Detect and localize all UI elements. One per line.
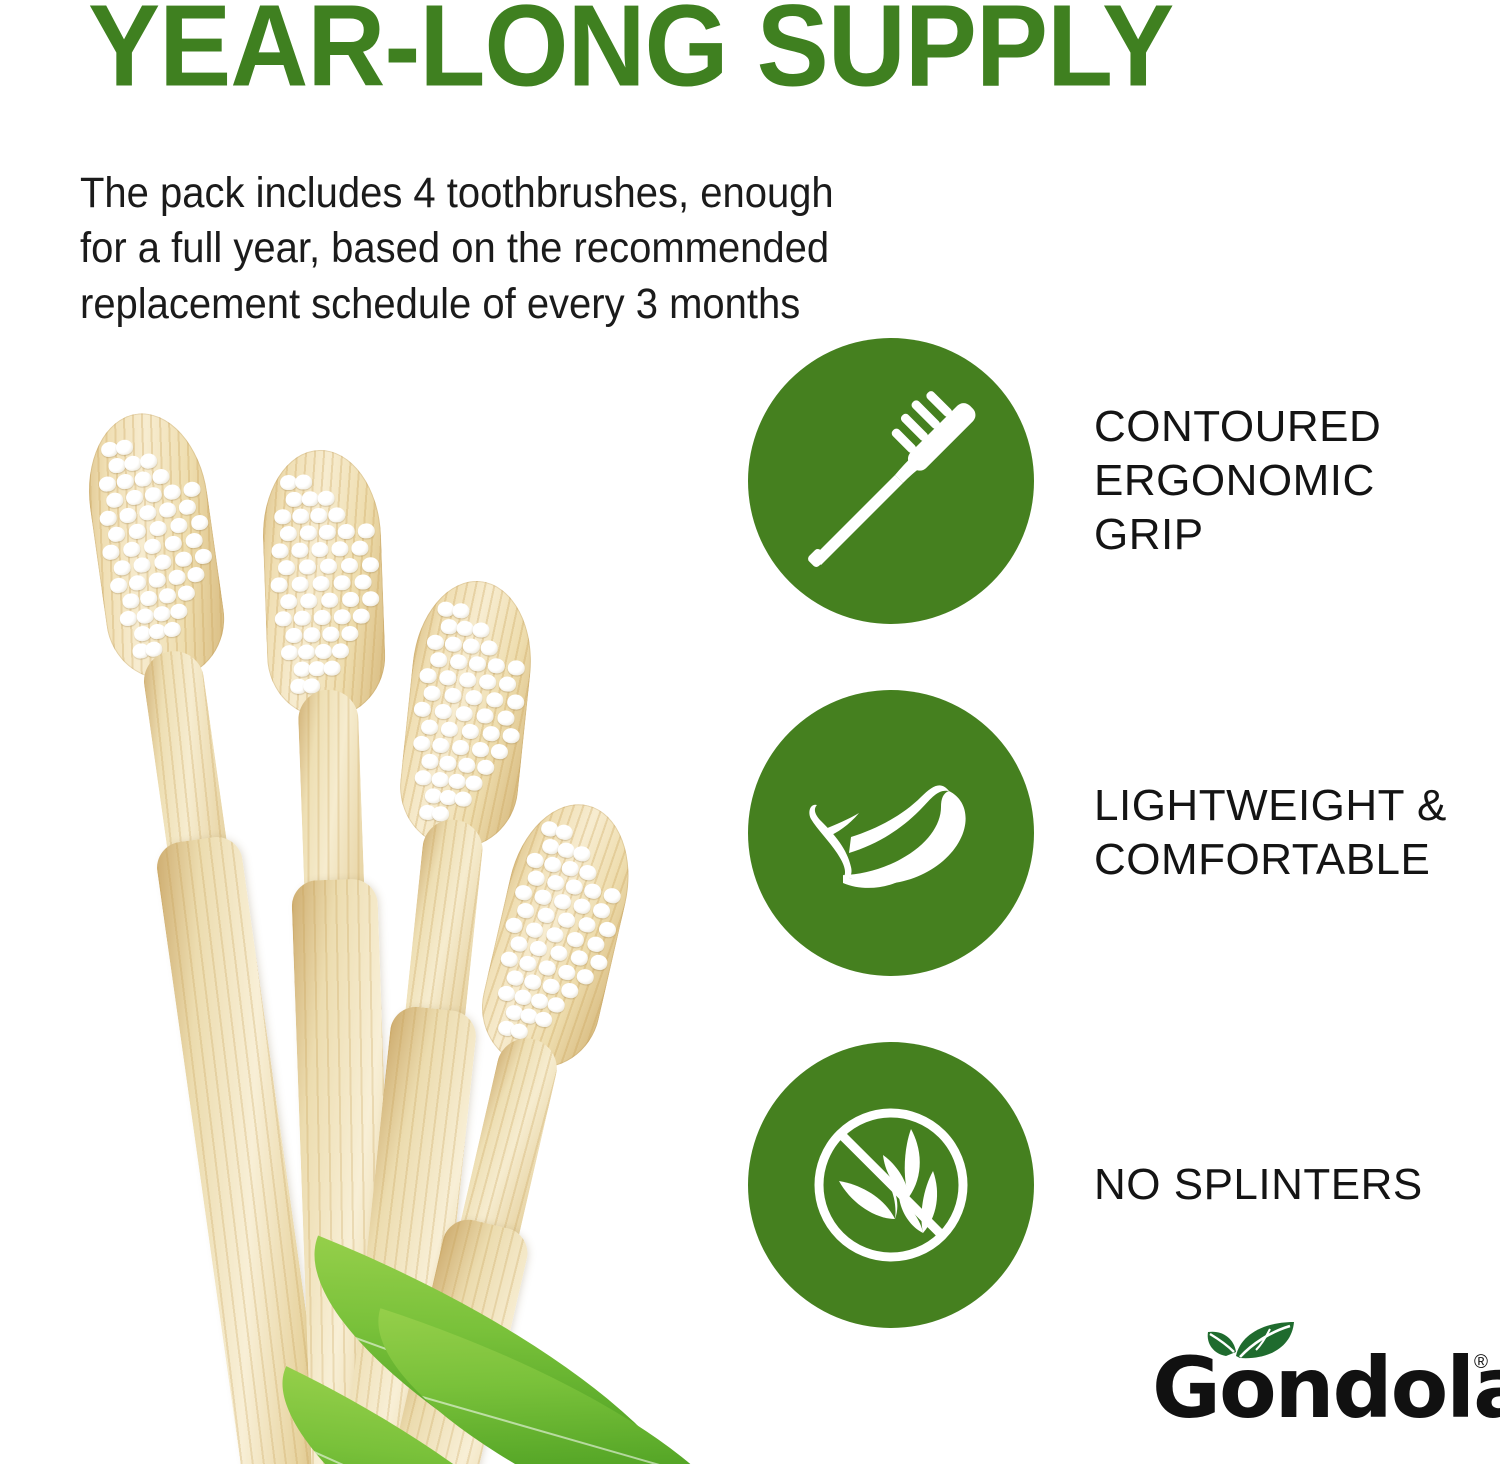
bristle-tuft <box>301 491 319 507</box>
bristle-tuft <box>281 645 299 661</box>
bristle-tuft <box>480 640 498 657</box>
bristle-tuft <box>423 685 441 702</box>
bristle-tuft <box>163 483 182 500</box>
bristle-tuft <box>304 627 322 643</box>
bristle-tuft <box>527 869 547 887</box>
bristle-tuft <box>444 636 462 653</box>
bristle-tuft <box>559 981 579 999</box>
bristle-tuft <box>271 577 289 593</box>
bristle-tuft <box>462 638 480 655</box>
feather-icon <box>791 733 991 933</box>
bristle-tuft <box>321 592 339 608</box>
bristle-tuft <box>465 775 483 792</box>
bristle-tuft <box>564 878 584 896</box>
bristle-tuft <box>119 610 138 627</box>
bristle-tuft <box>441 721 459 738</box>
bristle-tuft <box>169 517 188 534</box>
bristle-tuft <box>328 507 346 523</box>
bristle-tuft <box>115 439 134 456</box>
bristle-tuft <box>487 657 505 674</box>
bristle-tuft <box>451 602 469 619</box>
bristle-tuft <box>333 609 351 625</box>
bristle-tuft <box>525 921 545 939</box>
bristle-tuft <box>577 915 597 933</box>
bristle-tuft <box>149 520 168 537</box>
bristle-tuft <box>274 509 292 525</box>
bristle-tuft <box>592 902 612 920</box>
bristle-tuft <box>354 574 372 590</box>
product-photo <box>0 400 750 1464</box>
bristle-tuft <box>576 968 596 986</box>
feature-label: LIGHTWEIGHT & COMFORTABLE <box>1094 779 1447 886</box>
bristle-tuft <box>169 603 188 620</box>
bristle-tuft <box>476 759 494 776</box>
bristle-tuft <box>139 452 158 469</box>
bristle-tuft <box>541 977 561 995</box>
brush-neck <box>404 817 486 1032</box>
bristle-tuft <box>107 457 126 474</box>
bristle-tuft <box>476 708 494 725</box>
bristle-tuft <box>107 526 126 543</box>
bristle-tuft <box>497 710 515 727</box>
feature-no-splinters: NO SPLINTERS <box>748 1042 1423 1328</box>
bristle-tuft <box>341 558 359 574</box>
bristle-tuft <box>439 755 457 772</box>
bristle-tuft <box>362 591 380 607</box>
bristle-tuft <box>456 620 474 637</box>
bristle-tuft <box>459 672 477 689</box>
bristle-tuft <box>144 486 163 503</box>
feature-label: CONTOURED ERGONOMIC GRIP <box>1094 400 1381 561</box>
bristle-tuft <box>444 687 462 704</box>
bristle-tuft <box>509 935 529 953</box>
bristle-tuft <box>122 541 141 558</box>
bristle-tuft <box>468 655 486 672</box>
bristle-tuft <box>516 901 536 919</box>
bristle-tuft <box>311 542 329 558</box>
bristle-tuft <box>499 676 517 693</box>
bristle-tuft <box>507 659 525 676</box>
bristle-tuft <box>431 771 449 788</box>
brand-logo: Gondola ® <box>1152 1338 1482 1448</box>
bristle-tuft <box>176 585 195 602</box>
bristle-tuft <box>536 906 556 924</box>
bristle-tuft <box>158 501 177 518</box>
bristle-tuft <box>471 741 489 758</box>
bristle-tuft <box>285 492 303 508</box>
no-splinters-icon <box>791 1085 991 1285</box>
bristle-tuft <box>420 719 438 736</box>
bristle-tuft <box>271 543 289 559</box>
bristle-tuft <box>310 508 328 524</box>
bristle-tuft <box>299 559 317 575</box>
bristle-tuft <box>187 566 206 583</box>
bristle-tuft <box>118 507 137 524</box>
bristle-tuft <box>455 705 473 722</box>
bristle-tuft <box>572 845 592 863</box>
bristle-tuft <box>341 592 359 608</box>
bristle-tuft <box>352 540 370 556</box>
trademark-symbol: ® <box>1474 1352 1488 1374</box>
toothbrush-icon <box>791 381 991 581</box>
bristle-tuft <box>174 551 193 568</box>
feature-contoured-ergonomic-grip: CONTOURED ERGONOMIC GRIP <box>748 338 1381 624</box>
bristle-tuft <box>565 930 585 948</box>
bristle-tuft <box>454 791 472 808</box>
bristle-tuft <box>320 558 338 574</box>
bristle-tuft <box>430 651 448 668</box>
bristle-tuft <box>148 571 167 588</box>
bristle-tuft <box>357 523 375 539</box>
bristle-tuft <box>116 473 135 490</box>
bristle-tuft <box>414 769 432 786</box>
bristle-tuft <box>472 622 490 639</box>
bristle-tuft <box>438 669 456 686</box>
bristle-tuft <box>529 939 549 957</box>
bristle-tuft <box>412 735 430 752</box>
feature-icon-badge <box>748 690 1034 976</box>
feature-icon-badge <box>748 338 1034 624</box>
brand-name: Gondola <box>1152 1346 1500 1430</box>
bristle-tuft <box>106 491 125 508</box>
bristle-tuft <box>543 855 563 873</box>
bristle-tuft <box>133 556 152 573</box>
product-infographic: YEAR-LONG SUPPLY The pack includes 4 too… <box>0 0 1500 1464</box>
bristle-tuft <box>482 725 500 742</box>
bristle-tuft <box>434 703 452 720</box>
bristle-tuft <box>153 553 172 570</box>
bristle-tuft <box>413 701 431 718</box>
bristle-tuft <box>98 475 117 492</box>
bristle-tuft <box>418 667 436 684</box>
bristle-tuft <box>341 626 359 642</box>
feature-icon-badge <box>748 1042 1034 1328</box>
bristle-tuft <box>485 691 503 708</box>
bristle-tuft <box>557 911 577 929</box>
bristle-tuft <box>163 621 182 638</box>
bristle-tuft <box>432 737 450 754</box>
bristle-tuft <box>523 973 543 991</box>
bristle-tuft <box>121 592 140 609</box>
bristle-tuft <box>280 526 298 542</box>
page-title: YEAR-LONG SUPPLY <box>88 0 1173 108</box>
bristle-tuft <box>426 634 444 651</box>
bristle-tuft <box>332 643 350 659</box>
bristle-tuft <box>319 524 337 540</box>
bristle-tuft <box>136 607 155 624</box>
brush-bristles <box>270 462 376 697</box>
bristle-tuft <box>499 950 519 968</box>
bristle-tuft <box>546 996 566 1014</box>
bristle-tuft <box>545 926 565 944</box>
bristle-tuft <box>449 653 467 670</box>
bristle-tuft <box>572 897 592 915</box>
bristle-tuft <box>549 944 569 962</box>
bristle-tuft <box>138 504 157 521</box>
bristle-tuft <box>353 608 371 624</box>
bristle-tuft <box>525 851 545 869</box>
bristle-tuft <box>553 892 573 910</box>
bristle-tuft <box>123 455 142 472</box>
bristle-tuft <box>274 611 292 627</box>
bristle-tuft <box>125 489 144 506</box>
bristle-tuft <box>294 610 312 626</box>
bristle-tuft <box>153 605 172 622</box>
bristle-tuft <box>569 949 589 967</box>
bristle-tuft <box>184 532 203 549</box>
bristle-tuft <box>518 954 538 972</box>
bristle-tuft <box>322 626 340 642</box>
bristle-tuft <box>315 644 333 660</box>
bristle-tuft <box>292 508 310 524</box>
bristle-tuft <box>505 969 525 987</box>
bristle-tuft <box>295 474 313 490</box>
bristle-tuft <box>338 524 356 540</box>
brush-neck <box>140 647 229 863</box>
bristle-tuft <box>491 743 509 760</box>
bristle-tuft <box>421 753 439 770</box>
bristle-tuft <box>533 888 553 906</box>
bristle-tuft <box>578 863 598 881</box>
bristle-tuft <box>164 535 183 552</box>
bristle-tuft <box>361 557 379 573</box>
bristle-tuft <box>560 859 580 877</box>
bristle-tuft <box>465 689 483 706</box>
bristle-tuft <box>167 569 186 586</box>
bristle-tuft <box>504 916 524 934</box>
bristle-tuft <box>458 757 476 774</box>
bristle-tuft <box>333 575 351 591</box>
bristle-tuft <box>143 538 162 555</box>
bristle-tuft <box>530 992 550 1010</box>
bristle-tuft <box>312 576 330 592</box>
bristle-tuft <box>158 587 177 604</box>
bristle-tuft <box>178 498 197 515</box>
subtitle-description: The pack includes 4 toothbrushes, enough… <box>80 166 880 332</box>
bristle-tuft <box>102 544 121 561</box>
bristle-tuft <box>299 525 317 541</box>
bristle-tuft <box>534 1010 554 1028</box>
bristle-tuft <box>513 988 533 1006</box>
bristle-tuft <box>285 628 303 644</box>
bristle-tuft <box>291 576 309 592</box>
bristle-tuft <box>113 559 132 576</box>
bristle-tuft <box>323 660 341 676</box>
bristle-tuft <box>140 590 159 607</box>
bristle-tuft <box>278 560 296 576</box>
bristle-tuft <box>331 541 349 557</box>
bristle-tuft <box>280 594 298 610</box>
bristle-tuft <box>109 577 128 594</box>
bristle-tuft <box>583 882 603 900</box>
bristle-tuft <box>440 618 458 635</box>
bristle-tuft <box>317 490 335 506</box>
bristle-tuft <box>151 468 170 485</box>
bristle-tuft <box>134 470 153 487</box>
brush-neck <box>297 689 364 901</box>
feature-lightweight-comfortable: LIGHTWEIGHT & COMFORTABLE <box>748 690 1447 976</box>
bristle-tuft <box>314 610 332 626</box>
bristle-tuft <box>300 593 318 609</box>
bristle-tuft <box>497 984 517 1002</box>
bristle-tuft <box>557 963 577 981</box>
bristle-tuft <box>451 739 469 756</box>
bristle-tuft <box>298 644 316 660</box>
feature-label: NO SPLINTERS <box>1094 1158 1423 1212</box>
bristle-tuft <box>586 935 606 953</box>
bristle-tuft <box>128 523 147 540</box>
bristle-tuft <box>291 542 309 558</box>
bristle-tuft <box>461 723 479 740</box>
bristle-tuft <box>128 574 147 591</box>
bristle-tuft <box>448 773 466 790</box>
bristle-tuft <box>479 674 497 691</box>
bristle-tuft <box>537 959 557 977</box>
bristle-tuft <box>546 873 566 891</box>
bristle-tuft <box>506 694 524 711</box>
